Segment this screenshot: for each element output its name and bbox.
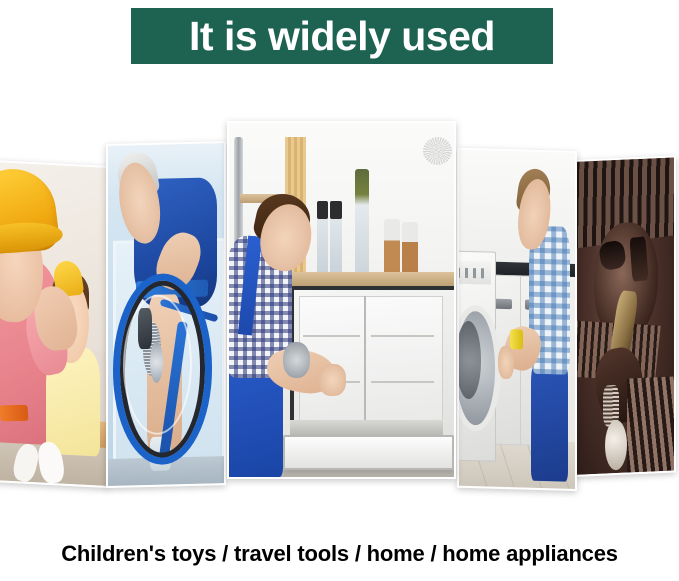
dishwasher-rack-shape: [303, 335, 359, 337]
dishwasher-door-shape: [283, 435, 454, 471]
photo-panel-travel-tools[interactable]: [106, 141, 226, 488]
scene-childrens-toys: [0, 162, 106, 486]
photo-panel-childrens-toys[interactable]: [0, 160, 108, 488]
cabinet-handle-shape: [494, 299, 513, 310]
copper-canister-shape: [384, 219, 400, 276]
gear-slot-shape: [629, 237, 648, 282]
oil-bottle-shape: [355, 169, 369, 275]
photo-panel-home-appliances[interactable]: [457, 148, 577, 491]
photo-panel-machinery[interactable]: [574, 155, 676, 477]
photo-panel-gallery: [0, 100, 679, 520]
spice-jar-cap-shape: [330, 201, 341, 219]
dishwasher-divider-shape: [364, 296, 366, 434]
man-leg-shape: [531, 360, 568, 482]
man-hand-shape: [498, 346, 513, 380]
bicycle-derailleur-shape: [138, 308, 152, 349]
washer-buttons-shape: [459, 267, 485, 278]
copper-canister-shape: [402, 222, 418, 275]
bicycle-hub-shape: [150, 342, 163, 383]
hand-tool-shape: [0, 405, 29, 421]
photo-panel-home-dishwasher[interactable]: [227, 121, 456, 479]
usage-categories-caption: Children's toys / travel tools / home / …: [0, 540, 679, 568]
scene-washer-repair: [459, 150, 575, 489]
man-hand-shape: [319, 364, 346, 396]
scene-dishwasher-repair: [229, 123, 454, 477]
ceiling-fixture-shape: [423, 137, 452, 165]
header-banner: It is widely used: [131, 8, 553, 64]
scene-bicycle-repair: [108, 143, 224, 486]
dishwasher-rack-shape: [371, 381, 434, 383]
spice-jar-cap-shape: [317, 201, 328, 219]
metal-grid-shape: [627, 376, 674, 472]
repair-tool-shape: [283, 342, 310, 377]
dishwasher-rack-shape: [371, 335, 434, 337]
page-title: It is widely used: [189, 16, 495, 57]
scene-machinery-closeup: [576, 157, 674, 474]
screwdriver-shape: [510, 329, 523, 350]
